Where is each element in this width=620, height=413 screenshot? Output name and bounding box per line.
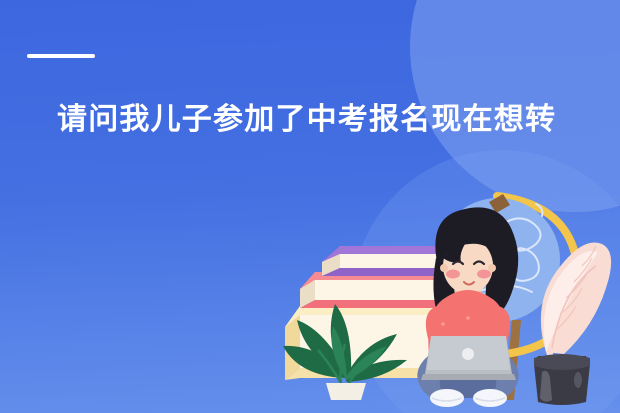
plant-pot xyxy=(326,383,366,400)
laptop xyxy=(421,336,516,380)
illustration xyxy=(0,0,620,413)
girl-shoe-right xyxy=(473,389,507,407)
laptop-base xyxy=(421,374,516,380)
cover-card: 请问我儿子参加了中考报名现在想转 xyxy=(0,0,620,413)
ink-pot xyxy=(534,354,590,405)
laptop-logo xyxy=(462,348,474,360)
girl-blush-left xyxy=(446,270,460,279)
girl-blush-right xyxy=(477,270,491,279)
girl-shoe-left xyxy=(430,389,464,407)
